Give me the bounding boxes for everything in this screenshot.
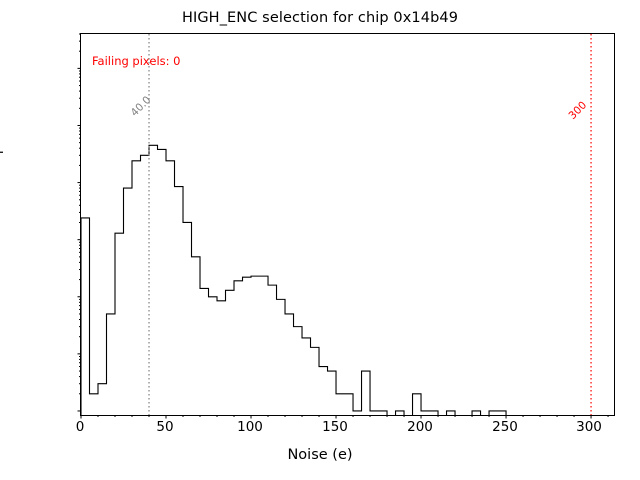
- x-tick-label-50: 50: [135, 419, 195, 435]
- x-axis-label: Noise (e): [0, 447, 640, 463]
- x-tick-label-200: 200: [390, 419, 450, 435]
- x-tick-label-300: 300: [559, 419, 619, 435]
- page-title: HIGH_ENC selection for chip 0x14b49: [0, 10, 640, 26]
- plot-area: [80, 33, 615, 416]
- x-tick-label-150: 150: [305, 419, 365, 435]
- chart-figure: HIGH_ENC selection for chip 0x14b49 Numb…: [0, 0, 640, 480]
- x-tick-label-0: 0: [50, 419, 110, 435]
- x-tick-label-100: 100: [220, 419, 280, 435]
- axis-ticks: [81, 34, 614, 415]
- y-axis-label: Number of pixels: [0, 0, 4, 384]
- x-tick-label-250: 250: [475, 419, 535, 435]
